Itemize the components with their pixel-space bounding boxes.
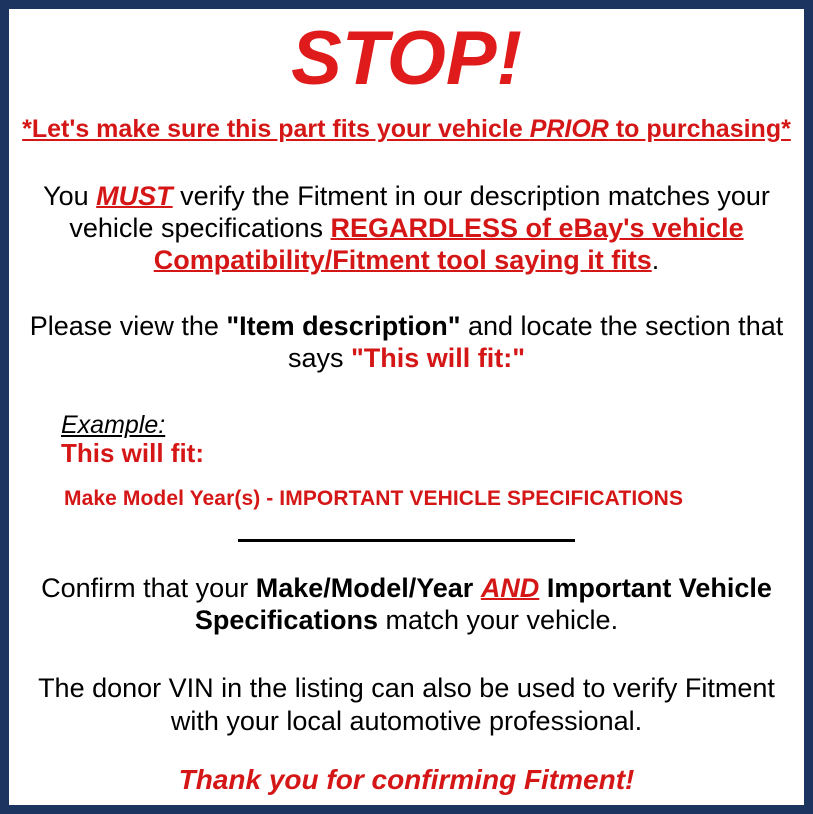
item-description-keyword: "Item description" — [226, 311, 460, 341]
confirm-paragraph: Confirm that your Make/Model/Year AND Im… — [21, 550, 792, 636]
divider-wrap — [21, 510, 792, 550]
fitment-notice-card: STOP! *Let's make sure this part fits yo… — [0, 0, 813, 814]
subtitle-lead: *Let's make sure this part fits your veh… — [22, 115, 530, 143]
subtitle-emphasis: PRIOR — [530, 115, 609, 143]
page-title: STOP! — [21, 9, 792, 96]
horizontal-rule-icon — [238, 539, 575, 542]
must-keyword: MUST — [96, 181, 173, 211]
item-description-paragraph: Please view the "Item description" and l… — [21, 276, 792, 374]
thank-you-message: Thank you for confirming Fitment! — [21, 737, 792, 796]
must-verify-paragraph: You MUST verify the Fitment in our descr… — [21, 144, 792, 276]
notice-content: STOP! *Let's make sure this part fits yo… — [9, 9, 804, 805]
donor-vin-paragraph: The donor VIN in the listing can also be… — [21, 636, 792, 736]
and-keyword: AND — [481, 573, 540, 603]
example-spec-line: Make Model Year(s) - IMPORTANT VEHICLE S… — [61, 468, 792, 511]
must-text-3: . — [652, 245, 660, 275]
confirm-text-1: Confirm that your — [41, 573, 256, 603]
example-label: Example: — [61, 411, 165, 439]
subtitle-banner: *Let's make sure this part fits your veh… — [21, 96, 792, 144]
example-label-row: Example: — [61, 411, 792, 439]
view-text-1: Please view the — [30, 311, 227, 341]
example-fit-heading: This will fit: — [61, 439, 792, 468]
subtitle-tail: to purchasing* — [609, 115, 791, 143]
example-block: Example: This will fit: Make Model Year(… — [21, 375, 792, 511]
must-text-1: You — [43, 181, 96, 211]
confirm-text-2: match your vehicle. — [378, 605, 618, 635]
make-model-year-keyword: Make/Model/Year — [256, 573, 481, 603]
this-will-fit-keyword: "This will fit:" — [351, 343, 525, 373]
